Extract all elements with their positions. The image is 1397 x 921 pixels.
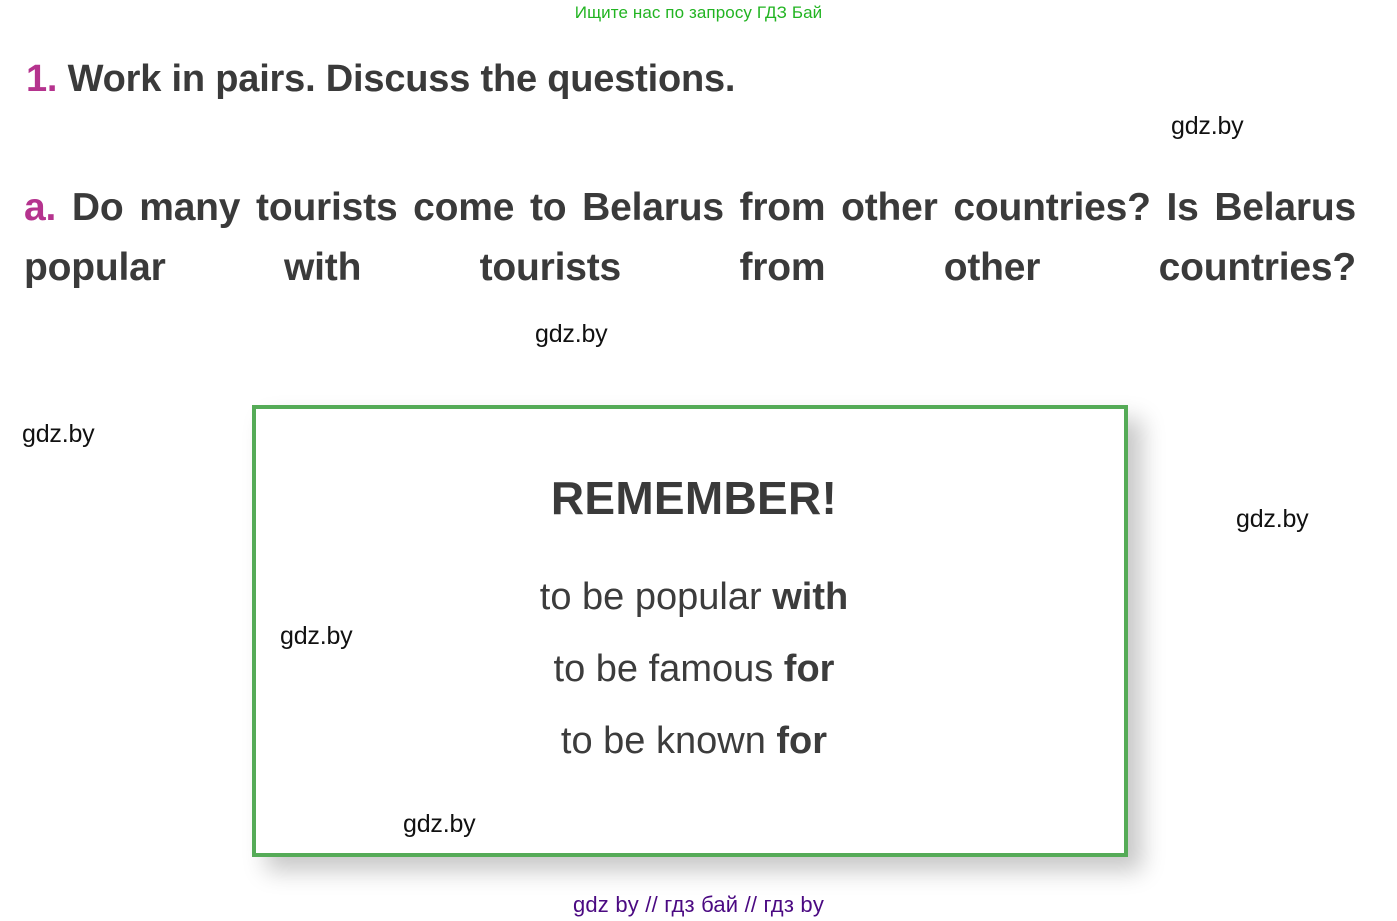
remember-line: to be popular with xyxy=(256,561,1132,633)
exercise-heading: 1. Work in pairs. Discuss the questions. xyxy=(26,58,735,101)
remember-line-bold: for xyxy=(776,720,827,762)
footer-credits: gdz by // гдз бай // гдз by xyxy=(0,892,1397,918)
remember-line-bold: with xyxy=(772,576,848,618)
task-letter: a. xyxy=(24,186,56,229)
remember-line-bold: for xyxy=(784,648,835,690)
watermark: gdz.by xyxy=(535,320,607,349)
exercise-number: 1. xyxy=(26,58,57,100)
promo-banner: Ищите нас по запросу ГДЗ Бай xyxy=(0,3,1397,23)
watermark: gdz.by xyxy=(1171,112,1243,141)
exercise-title: Work in pairs. Discuss the questions. xyxy=(68,58,736,100)
watermark: gdz.by xyxy=(1236,505,1308,534)
remember-line-plain: to be known xyxy=(561,720,776,762)
remember-lines: to be popular with to be famous for to b… xyxy=(256,561,1132,777)
task-text: Do many tourists come to Belarus from ot… xyxy=(24,186,1356,289)
remember-line-plain: to be popular xyxy=(540,576,772,618)
remember-box: REMEMBER! to be popular with to be famou… xyxy=(252,405,1128,857)
remember-line: to be known for xyxy=(256,705,1132,777)
remember-line: to be famous for xyxy=(256,633,1132,705)
remember-line-plain: to be famous xyxy=(554,648,784,690)
watermark: gdz.by xyxy=(280,622,352,651)
task-paragraph: a. Do many tourists come to Belarus from… xyxy=(24,178,1356,358)
watermark: gdz.by xyxy=(403,810,475,839)
watermark: gdz.by xyxy=(22,420,94,449)
remember-title: REMEMBER! xyxy=(256,471,1132,525)
